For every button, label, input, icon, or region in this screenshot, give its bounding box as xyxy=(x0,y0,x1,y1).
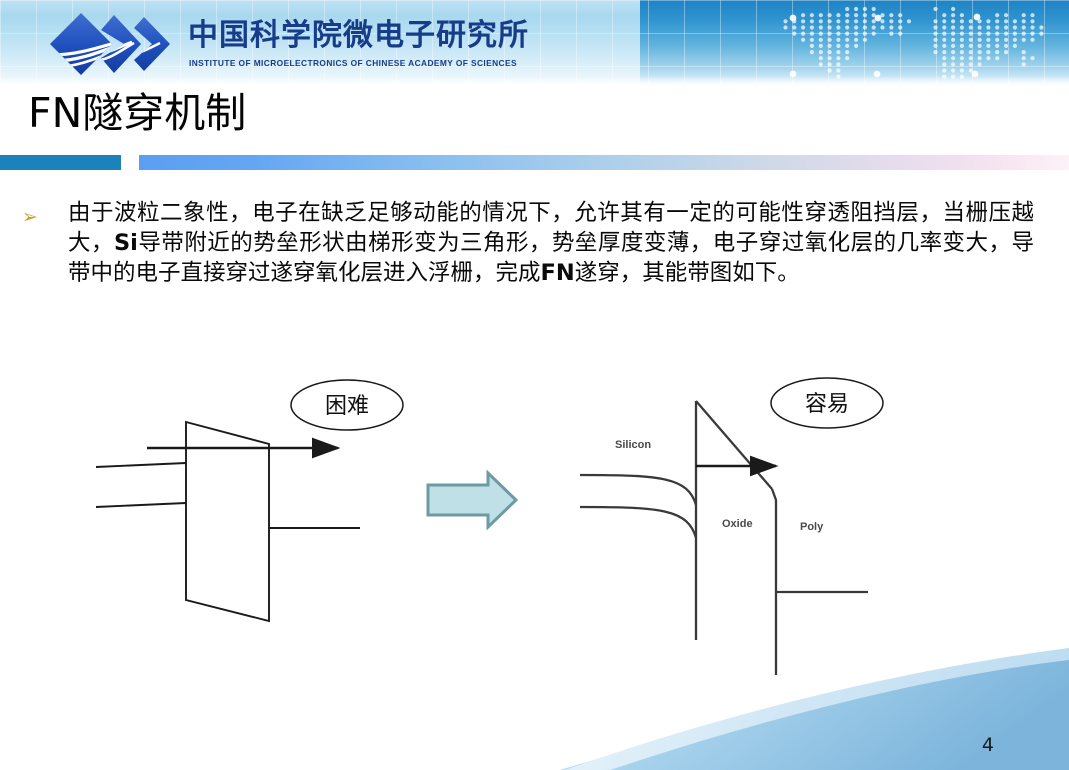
page-title: FN隧穿机制 xyxy=(28,92,246,135)
callout-label-left: 困难 xyxy=(325,394,369,419)
bullet-arrow-icon: ➢ xyxy=(22,208,44,226)
label-oxide: Oxide xyxy=(722,518,753,530)
left-band-diagram xyxy=(96,422,360,621)
body-paragraph: 由于波粒二象性，电子在缺乏足够动能的情况下，允许其有一定的可能性穿透阻挡层，当栅… xyxy=(68,198,1034,288)
imecas-diamond-logo-icon xyxy=(48,11,174,77)
oxide-band-slope xyxy=(696,401,772,489)
silicon-conduction-band xyxy=(580,475,696,505)
silicon-valence-band xyxy=(580,507,696,538)
band-diagram-figure: 困难 Silicon xyxy=(0,355,1069,675)
logo-text-chinese: 中国科学院微电子研究所 xyxy=(188,21,529,51)
header-banner: 中国科学院微电子研究所 INSTITUTE OF MICROELECTRONIC… xyxy=(0,0,1069,88)
header-fade xyxy=(0,76,1069,88)
slide-canvas: 中国科学院微电子研究所 INSTITUTE OF MICROELECTRONIC… xyxy=(0,0,1069,770)
left-band-line-upper xyxy=(96,463,186,467)
dotted-world-map-icon xyxy=(755,4,1055,84)
divider-bar-solid xyxy=(0,155,121,170)
left-band-line-lower xyxy=(96,503,186,507)
divider-bar-gradient xyxy=(139,155,1069,170)
trapezoid-barrier-shape xyxy=(186,422,269,621)
page-number: 4 xyxy=(982,734,994,756)
oxide-poly-interface xyxy=(772,489,776,675)
label-silicon: Silicon xyxy=(615,439,651,451)
institute-logo: 中国科学院微电子研究所 INSTITUTE OF MICROELECTRONIC… xyxy=(48,11,508,77)
label-poly: Poly xyxy=(800,521,824,533)
transition-arrow-icon xyxy=(428,473,516,527)
callout-label-right: 容易 xyxy=(805,392,849,417)
logo-text-english: INSTITUTE OF MICROELECTRONICS OF CHINESE… xyxy=(189,59,517,68)
